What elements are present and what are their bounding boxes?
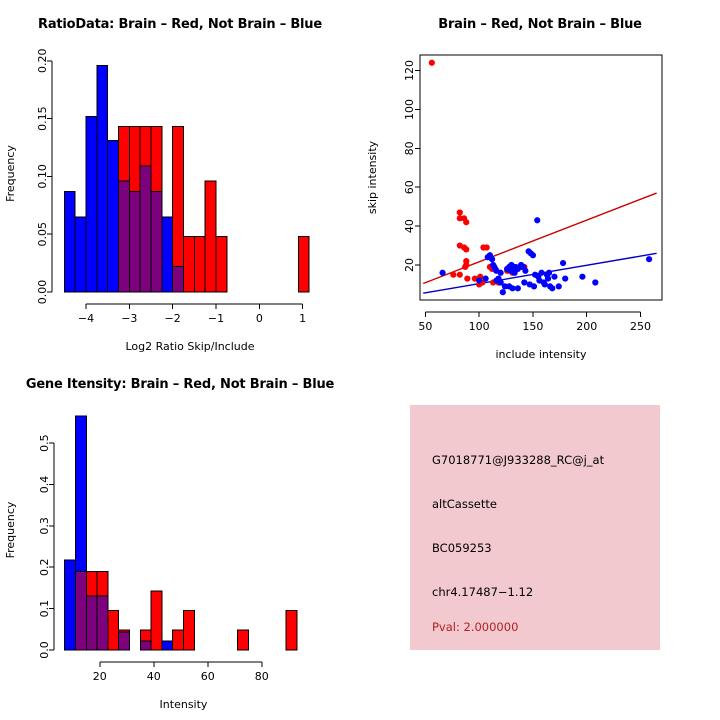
histogram-bar (151, 591, 162, 650)
scatter-point (500, 289, 506, 295)
scatter-point (464, 276, 470, 282)
histogram-bar (86, 116, 97, 292)
histogram-bar (205, 181, 216, 292)
histogram-bar-overlap (151, 191, 162, 292)
y-axis-tick-label: 80 (403, 141, 416, 155)
gene-histogram-plot: 0.00.10.20.30.40.520406080IntensityFrequ… (0, 360, 360, 720)
scatter-point (545, 276, 551, 282)
scatter-point (521, 279, 527, 285)
x-axis-tick-label: −4 (78, 312, 94, 325)
histogram-bar (298, 237, 309, 292)
figure-canvas: RatioData: Brain – Red, Not Brain – Blue… (0, 0, 720, 720)
scatter-point (439, 270, 445, 276)
y-axis-tick-label: 0.5 (38, 434, 51, 452)
panel-intensity-scatter: Brain – Red, Not Brain – Blue 2040608010… (360, 0, 720, 360)
y-axis-tick-label: 120 (403, 60, 416, 81)
scatter-point (450, 272, 456, 278)
x-axis-tick-label: 50 (418, 320, 432, 333)
scatter-point (457, 272, 463, 278)
histogram-bar-overlap (129, 191, 140, 292)
ratio-histogram-plot: 0.000.050.100.150.20−4−3−2−101Log2 Ratio… (0, 0, 360, 360)
y-axis-tick-label: 0.05 (36, 222, 49, 247)
scatter-point (546, 270, 552, 276)
scatter-point (579, 274, 585, 280)
histogram-bar (238, 630, 249, 650)
histogram-bar-overlap (119, 181, 130, 292)
scatter-point (646, 256, 652, 262)
histogram-bar-overlap (76, 571, 87, 650)
histogram-bar (75, 217, 86, 292)
scatter-point (551, 274, 557, 280)
scatter-point (498, 270, 504, 276)
scatter-plot: 2040608010012050100150200250include inte… (360, 0, 720, 360)
histogram-bar-overlap (173, 267, 184, 292)
x-axis-tick-label: 150 (522, 320, 543, 333)
info-box-content: G7018771@J933288_RC@j_at altCassette BC0… (432, 405, 652, 650)
y-axis-tick-label: 0.0 (38, 641, 51, 659)
scatter-point (489, 256, 495, 262)
histogram-bar (162, 641, 173, 650)
regression-line (423, 193, 656, 283)
histogram-bar-overlap (86, 596, 97, 650)
event-type-label: altCassette (432, 497, 497, 511)
y-axis-tick-label: 40 (403, 219, 416, 233)
scatter-point (498, 279, 504, 285)
x-axis-tick-label: 100 (469, 320, 490, 333)
y-axis-tick-label: 0.20 (36, 49, 49, 74)
probe-id-label: G7018771@J933288_RC@j_at (432, 453, 604, 467)
histogram-bar-overlap (140, 166, 151, 292)
scatter-point (531, 283, 537, 289)
x-axis-tick-label: 250 (630, 320, 651, 333)
scatter-point (463, 219, 469, 225)
pval-label: Pval: 2.000000 (432, 620, 518, 634)
locus-label: chr4.17487−1.12 (432, 585, 533, 599)
x-axis-tick-label: 60 (201, 670, 215, 683)
ratio-histogram-title: RatioData: Brain – Red, Not Brain – Blue (0, 17, 360, 32)
x-axis-title: Log2 Ratio Skip/Include (125, 340, 254, 353)
x-axis-tick-label: 40 (147, 670, 161, 683)
x-axis-tick-label: −2 (165, 312, 181, 325)
histogram-bar-overlap (119, 632, 130, 650)
scatter-point (522, 268, 528, 274)
y-axis-tick-label: 0.4 (38, 476, 51, 494)
histogram-bar (286, 611, 297, 650)
scatter-point (463, 246, 469, 252)
x-axis-tick-label: 1 (299, 312, 306, 325)
x-axis-tick-label: 200 (576, 320, 597, 333)
scatter-point (462, 264, 468, 270)
y-axis-title: Frequency (4, 145, 17, 202)
histogram-bar (184, 611, 195, 650)
scatter-point (484, 244, 490, 250)
y-axis-tick-label: 0.2 (38, 558, 51, 576)
info-box: G7018771@J933288_RC@j_at altCassette BC0… (410, 405, 660, 650)
histogram-bar-overlap (140, 641, 151, 650)
scatter-point (483, 276, 489, 282)
scatter-point (457, 209, 463, 215)
histogram-bar (108, 141, 119, 292)
y-axis-tick-label: 100 (403, 99, 416, 120)
y-axis-tick-label: 20 (403, 258, 416, 272)
scatter-point (560, 260, 566, 266)
y-axis-title: Frequency (4, 501, 17, 558)
y-axis-tick-label: 60 (403, 180, 416, 194)
scatter-point (530, 252, 536, 258)
y-axis-tick-label: 0.1 (38, 600, 51, 618)
y-axis-tick-label: 0.10 (36, 164, 49, 189)
x-axis-title: include intensity (495, 348, 587, 360)
y-axis-tick-label: 0.00 (36, 280, 49, 305)
histogram-bar (97, 65, 108, 292)
y-axis-title: skip intensity (366, 140, 379, 214)
histogram-bar (64, 191, 75, 292)
scatter-point (549, 285, 555, 291)
histogram-bar-overlap (97, 596, 108, 650)
histogram-bar (162, 217, 173, 292)
x-axis-tick-label: −3 (121, 312, 137, 325)
plot-frame (420, 55, 662, 300)
x-axis-tick-label: 80 (255, 670, 269, 683)
x-axis-tick-label: −1 (208, 312, 224, 325)
scatter-point (534, 217, 540, 223)
accession-label: BC059253 (432, 541, 492, 555)
panel-ratio-histogram: RatioData: Brain – Red, Not Brain – Blue… (0, 0, 360, 360)
scatter-point (515, 285, 521, 291)
panel-info: G7018771@J933288_RC@j_at altCassette BC0… (360, 360, 720, 720)
scatter-point (476, 277, 482, 283)
histogram-bar (216, 237, 227, 292)
scatter-point (542, 281, 548, 287)
x-axis-title: Intensity (160, 698, 208, 711)
histogram-bar (65, 560, 76, 650)
scatter-title: Brain – Red, Not Brain – Blue (360, 17, 720, 32)
y-axis-tick-label: 0.15 (36, 106, 49, 130)
histogram-bar (108, 611, 119, 650)
scatter-point (538, 270, 544, 276)
y-axis-tick-label: 0.3 (38, 517, 51, 535)
x-axis-tick-label: 20 (93, 670, 107, 683)
scatter-point (509, 285, 515, 291)
panel-gene-histogram: Gene Itensity: Brain – Red, Not Brain – … (0, 360, 360, 720)
histogram-bar (194, 237, 205, 292)
scatter-point (562, 276, 568, 282)
scatter-point (556, 283, 562, 289)
histogram-bar (173, 630, 184, 650)
histogram-bar (184, 237, 195, 292)
gene-histogram-title: Gene Itensity: Brain – Red, Not Brain – … (0, 377, 360, 392)
x-axis-tick-label: 0 (256, 312, 263, 325)
scatter-point (429, 60, 435, 66)
scatter-point (592, 279, 598, 285)
